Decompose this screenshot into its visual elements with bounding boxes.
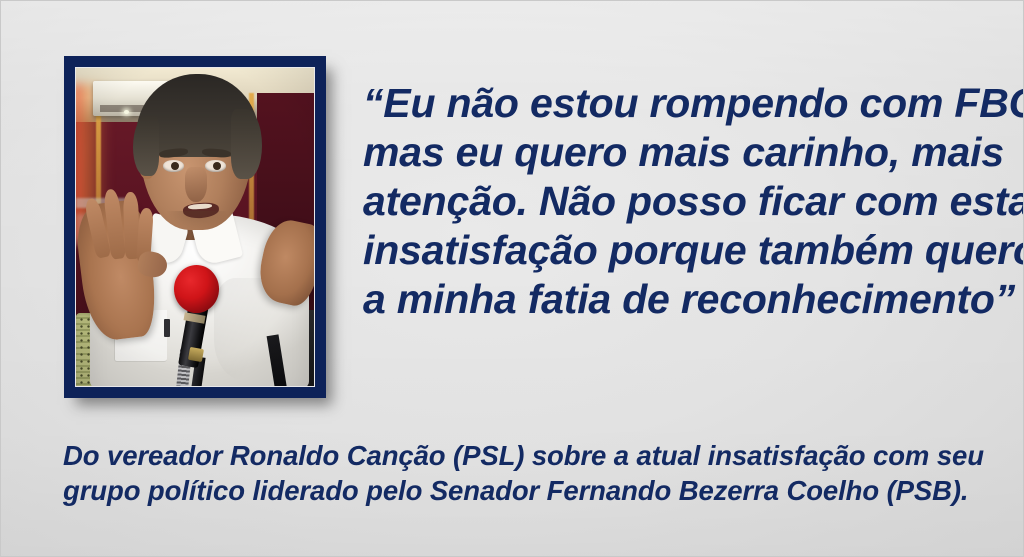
- photo-image: [75, 67, 315, 387]
- quote-line-5: a minha fatia de reconhecimento”: [363, 275, 1011, 324]
- quote-card: “Eu não estou rompendo com FBC, mas eu q…: [0, 0, 1024, 557]
- quote-line-2: mas eu quero mais carinho, mais: [363, 128, 1011, 177]
- quote-text: “Eu não estou rompendo com FBC, mas eu q…: [363, 79, 1011, 324]
- photo-vignette: [76, 68, 314, 386]
- caption-line-1: Do vereador Ronaldo Canção (PSL) sobre a…: [63, 438, 993, 473]
- photo-frame: [64, 56, 326, 398]
- caption-text: Do vereador Ronaldo Canção (PSL) sobre a…: [63, 438, 993, 508]
- caption-line-2: grupo político liderado pelo Senador Fer…: [63, 473, 993, 508]
- quote-line-1: “Eu não estou rompendo com FBC,: [363, 79, 1011, 128]
- quote-line-3: atenção. Não posso ficar com esta: [363, 177, 1011, 226]
- quote-line-4: insatisfação porque também quero: [363, 226, 1011, 275]
